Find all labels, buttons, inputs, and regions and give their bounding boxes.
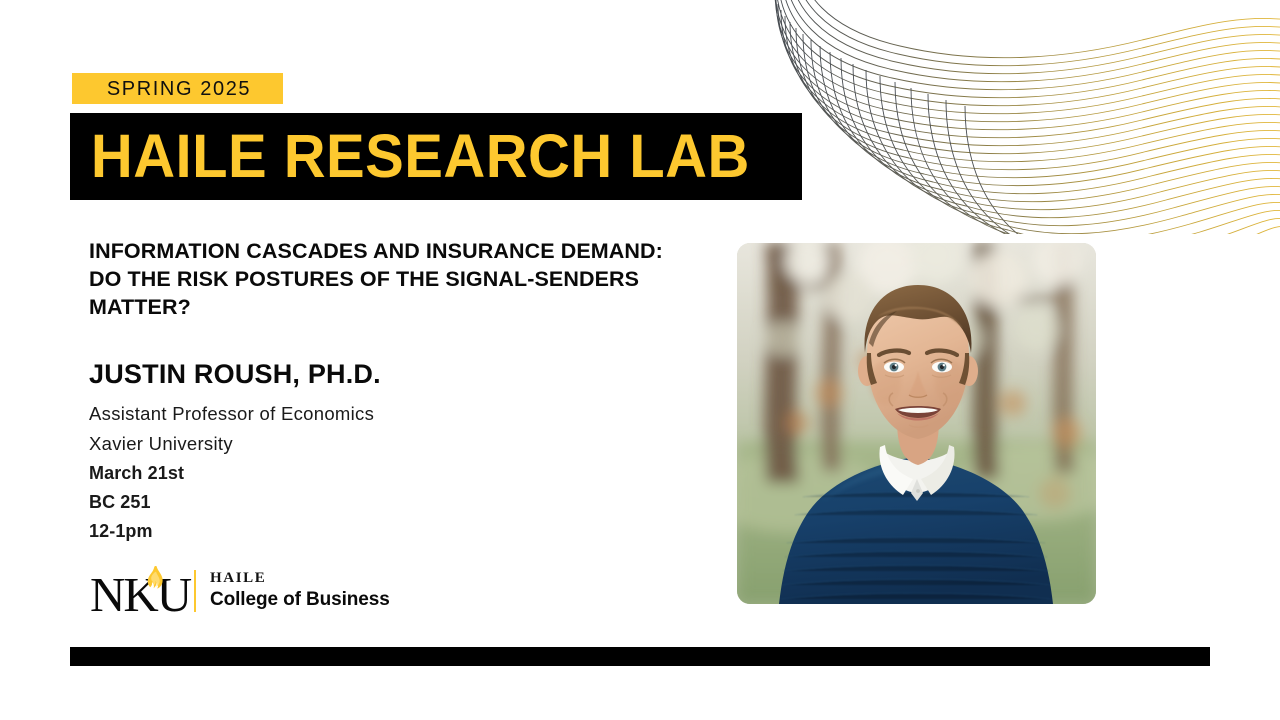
speaker-affiliation: Xavier University	[89, 429, 569, 459]
logo-divider	[194, 570, 196, 612]
nku-haile-logo: NKU HAILE College of Business	[90, 565, 390, 617]
season-badge-label: SPRING 2025	[104, 79, 251, 99]
event-date: March 21st	[89, 459, 569, 488]
series-title: HAILE RESEARCH LAB	[70, 126, 750, 187]
event-time: 12-1pm	[89, 517, 569, 546]
speaker-name: JUSTIN ROUSH, PH.D.	[89, 357, 569, 392]
speaker-details: JUSTIN ROUSH, PH.D. Assistant Professor …	[89, 357, 569, 547]
nku-letters: NKU	[90, 570, 190, 619]
talk-title: INFORMATION CASCADES AND INSURANCE DEMAN…	[89, 238, 689, 322]
nku-wordmark: NKU	[90, 565, 182, 617]
logo-wordmark-text: HAILE College of Business	[210, 570, 390, 612]
logo-college-name: College of Business	[210, 588, 390, 612]
contour-line-decoration	[770, 0, 1280, 234]
logo-unit-name: HAILE	[210, 570, 390, 587]
season-badge: SPRING 2025	[72, 73, 283, 104]
speaker-position: Assistant Professor of Economics	[89, 399, 569, 429]
flame-icon	[147, 566, 164, 596]
event-location: BC 251	[89, 488, 569, 517]
bottom-rule	[70, 647, 1210, 666]
series-title-banner: HAILE RESEARCH LAB	[70, 113, 802, 200]
speaker-portrait	[737, 243, 1096, 604]
